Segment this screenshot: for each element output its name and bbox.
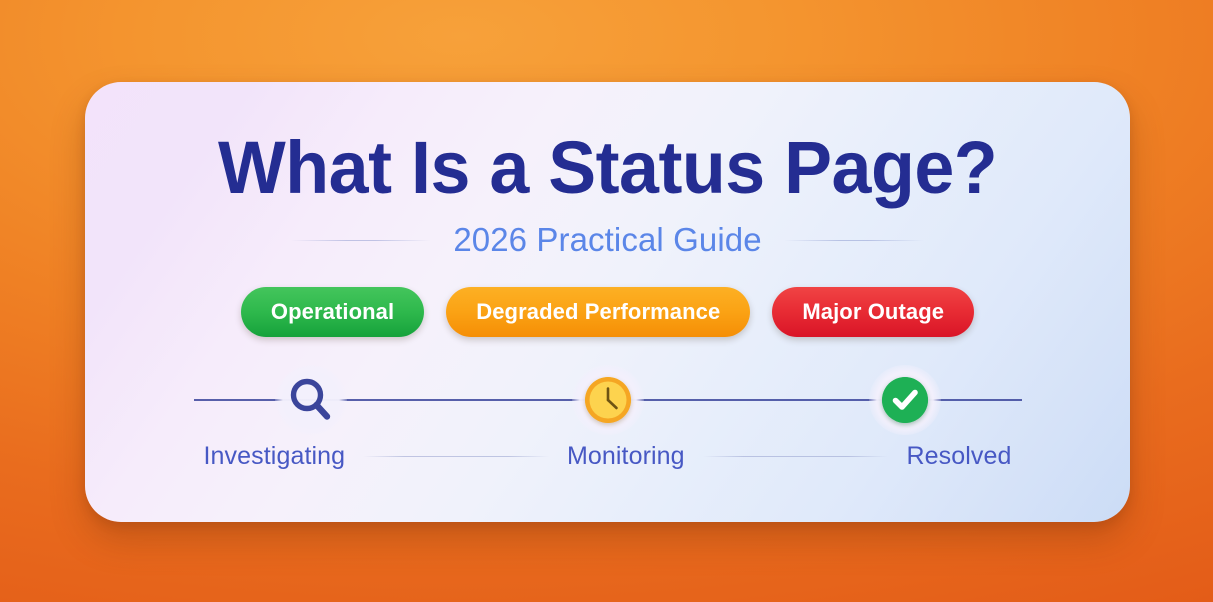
timeline-label-resolved: Resolved — [906, 442, 1011, 471]
timeline-node-group — [194, 371, 1022, 429]
timeline-label-monitoring: Monitoring — [567, 442, 685, 471]
timeline-label-rule-1 — [363, 456, 549, 457]
status-page-card: What Is a Status Page? 2026 Practical Gu… — [85, 82, 1130, 522]
clock-icon — [585, 377, 631, 423]
subtitle-rule-right — [784, 240, 924, 241]
page-title: What Is a Status Page? — [218, 130, 997, 205]
timeline-label-row: Investigating Monitoring Resolved — [194, 439, 1022, 473]
status-pill-group: Operational Degraded Performance Major O… — [241, 287, 974, 337]
status-badge-operational[interactable]: Operational — [241, 287, 424, 337]
status-badge-degraded-performance[interactable]: Degraded Performance — [446, 287, 750, 337]
check-circle-icon — [882, 377, 928, 423]
subtitle-rule-left — [291, 240, 431, 241]
timeline-node-monitoring[interactable] — [579, 371, 637, 429]
timeline-label-investigating: Investigating — [204, 442, 346, 471]
incident-timeline — [194, 371, 1022, 429]
subtitle-row: 2026 Practical Guide — [85, 221, 1130, 259]
timeline-node-resolved[interactable] — [876, 371, 934, 429]
timeline-node-investigating[interactable] — [282, 371, 340, 429]
timeline-label-rule-2 — [703, 456, 889, 457]
page-subtitle: 2026 Practical Guide — [453, 221, 761, 259]
card-content: What Is a Status Page? 2026 Practical Gu… — [85, 82, 1130, 522]
status-badge-major-outage[interactable]: Major Outage — [772, 287, 974, 337]
magnifier-icon — [286, 375, 336, 425]
